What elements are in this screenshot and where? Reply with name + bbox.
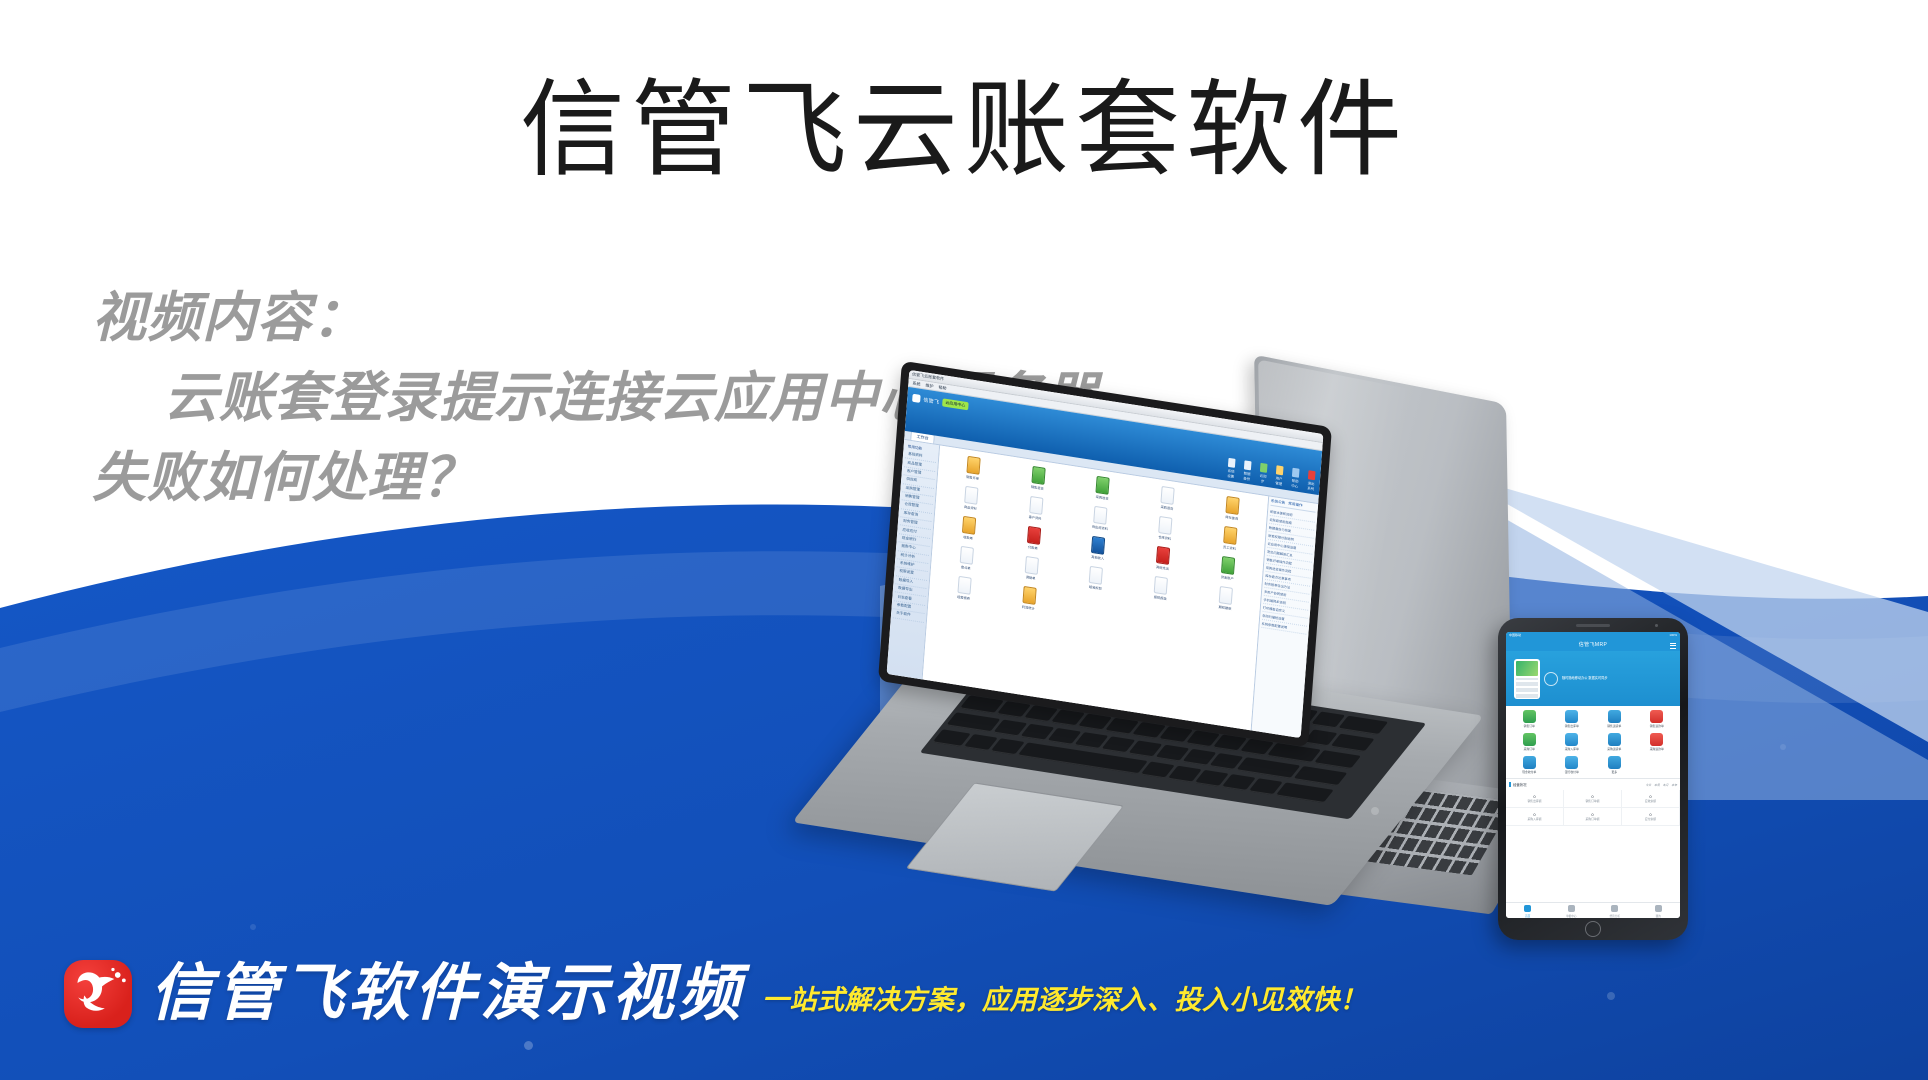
xinguanfei-bird-logo-icon bbox=[64, 960, 132, 1028]
app-main-workspace: 销售开单 销售退货 采购进货 采购退货 库存查询 商品资料 客户资料 供应商资料… bbox=[923, 445, 1269, 730]
filter-year[interactable]: 本年 bbox=[1671, 783, 1677, 787]
ribbon-button-5[interactable]: 退出系统 bbox=[1306, 470, 1317, 491]
phone-app-title: 信管飞MRP bbox=[1579, 641, 1608, 648]
tab-profile[interactable]: 我的 bbox=[1637, 903, 1681, 918]
help-icon bbox=[1292, 468, 1300, 478]
brand-name: 信管飞软件演示视频 bbox=[150, 963, 744, 1025]
module-glyph-icon bbox=[1156, 546, 1170, 565]
module-glyph-icon bbox=[1523, 756, 1536, 769]
stat-label: 销售出库额 bbox=[1506, 799, 1563, 803]
module-glyph-icon bbox=[1565, 710, 1578, 723]
phone-module[interactable]: 银行收付单 bbox=[1552, 756, 1593, 774]
phone-app-header: 信管飞MRP bbox=[1506, 638, 1680, 651]
module-icon[interactable]: 其他支出 bbox=[1132, 542, 1195, 574]
tab-documents[interactable]: 单据中心 bbox=[1550, 903, 1594, 918]
brand-tagline: 一站式解决方案，应用逐步深入、投入小见效快！ bbox=[762, 978, 1367, 1017]
module-icon[interactable]: 商品资料 bbox=[940, 482, 1003, 514]
filter-week[interactable]: 本周 bbox=[1654, 783, 1660, 787]
module-glyph-icon bbox=[1523, 733, 1536, 746]
decor-dot bbox=[524, 1041, 533, 1050]
ribbon-button-label: 退出系统 bbox=[1306, 480, 1316, 491]
chart-icon bbox=[1611, 905, 1618, 912]
module-icon[interactable]: 客户资料 bbox=[1005, 492, 1068, 524]
ribbon-button-label: 数据备份 bbox=[1242, 470, 1252, 481]
module-glyph-icon bbox=[1024, 556, 1038, 575]
module-glyph-icon bbox=[1022, 586, 1036, 605]
document-icon bbox=[1568, 905, 1575, 912]
phone-module[interactable]: 销售退货单 bbox=[1594, 710, 1635, 728]
phone-module-label: 销售退货单 bbox=[1594, 724, 1635, 728]
module-glyph-icon bbox=[966, 456, 980, 475]
module-glyph-icon bbox=[964, 486, 978, 505]
phone-module-label: 银行收付单 bbox=[1552, 770, 1593, 774]
ribbon-button-0[interactable]: 系统设置 bbox=[1226, 458, 1237, 479]
stat-cell[interactable]: 0销售订单额 bbox=[1564, 790, 1622, 808]
decor-dot bbox=[1607, 992, 1615, 1000]
module-glyph-icon bbox=[1158, 516, 1172, 535]
module-glyph-icon bbox=[1608, 756, 1621, 769]
module-glyph-icon bbox=[1161, 486, 1175, 505]
section-title: 经营状况 bbox=[1509, 782, 1527, 787]
laptop-lid-front: 信管飞云账套软件 系统 维护 帮助 信管飞 云应用中心 bbox=[878, 361, 1332, 748]
phone-camera-icon bbox=[1655, 624, 1658, 627]
phone-module[interactable]: 现金收付单 bbox=[1509, 756, 1550, 774]
module-glyph-icon bbox=[1091, 536, 1105, 555]
cloud-sync-icon bbox=[1260, 463, 1268, 473]
phone-module-label: 现金收付单 bbox=[1509, 770, 1550, 774]
phone-module-label: 销售退款单 bbox=[1637, 724, 1678, 728]
filter-today[interactable]: 今日 bbox=[1646, 783, 1652, 787]
module-glyph-icon bbox=[960, 546, 974, 565]
app-brand: 信管飞 云应用中心 bbox=[912, 394, 969, 411]
stat-cell[interactable]: 0采购入库额 bbox=[1506, 808, 1564, 826]
user-icon bbox=[1276, 465, 1284, 475]
module-icon[interactable]: 采购进货 bbox=[1072, 472, 1135, 504]
stat-label: 采购入库额 bbox=[1506, 817, 1563, 821]
module-glyph-icon bbox=[1094, 506, 1108, 525]
laptop-open: 信管飞云账套软件 系统 维护 帮助 信管飞 云应用中心 bbox=[880, 394, 1440, 914]
laptop-screen: 信管飞云账套软件 系统 维护 帮助 信管飞 云应用中心 bbox=[887, 370, 1324, 738]
stat-label: 应付余额 bbox=[1622, 817, 1679, 821]
ribbon-button-label: 云同步 bbox=[1258, 473, 1268, 484]
brand-bar: 信管飞软件演示视频 一站式解决方案，应用逐步深入、投入小见效快！ bbox=[64, 960, 1367, 1028]
decor-dot bbox=[1371, 807, 1379, 815]
module-glyph-icon bbox=[1226, 496, 1240, 515]
ribbon-button-3[interactable]: 用户管理 bbox=[1274, 465, 1285, 486]
decor-dot bbox=[250, 924, 256, 930]
module-icon[interactable]: 收款单 bbox=[937, 512, 1000, 544]
tab-label: 我的 bbox=[1656, 915, 1661, 918]
filter-month[interactable]: 本月 bbox=[1663, 783, 1669, 787]
banner-device-illustration bbox=[1514, 659, 1540, 699]
module-glyph-icon bbox=[1650, 733, 1663, 746]
phone-module[interactable]: 采购退货单 bbox=[1594, 733, 1635, 751]
stat-label: 应收余额 bbox=[1622, 799, 1679, 803]
phone-module[interactable]: 销售退款单 bbox=[1637, 710, 1678, 728]
ribbon-button-2[interactable]: 云同步 bbox=[1258, 463, 1269, 484]
stat-cell[interactable]: 0应收余额 bbox=[1622, 790, 1680, 808]
ribbon-button-label: 系统设置 bbox=[1226, 468, 1236, 479]
module-icon[interactable]: 报损报溢 bbox=[1130, 572, 1193, 604]
logo-bird-glyph bbox=[64, 960, 132, 1028]
stat-cell[interactable]: 0采购订单额 bbox=[1564, 808, 1622, 826]
tab-label: 首页 bbox=[1525, 915, 1530, 918]
module-icon[interactable]: 采购退货 bbox=[1136, 482, 1199, 514]
ribbon-button-4[interactable]: 帮助中心 bbox=[1290, 468, 1301, 489]
module-icon[interactable]: 盘点单 bbox=[935, 542, 998, 574]
module-glyph-icon bbox=[962, 516, 976, 535]
module-icon[interactable]: 组装拆卸 bbox=[1065, 562, 1128, 594]
phone-module[interactable]: 采购退款单 bbox=[1637, 733, 1678, 751]
banner-text: 随时随地移动办公 数据实时同步 bbox=[1562, 676, 1608, 681]
module-glyph-icon bbox=[1027, 526, 1041, 545]
stat-label: 销售订单额 bbox=[1564, 799, 1621, 803]
module-icon[interactable]: 供应商资料 bbox=[1069, 502, 1132, 534]
phone-module-label: 采购订单 bbox=[1509, 747, 1550, 751]
tab-label: 单据中心 bbox=[1566, 915, 1576, 918]
module-icon[interactable]: 仓库资料 bbox=[1134, 512, 1197, 544]
ribbon-button-1[interactable]: 数据备份 bbox=[1242, 460, 1253, 481]
hamburger-menu-icon[interactable] bbox=[1670, 642, 1676, 650]
module-glyph-icon bbox=[1650, 710, 1663, 723]
person-icon bbox=[1655, 905, 1662, 912]
module-glyph-icon bbox=[1565, 733, 1578, 746]
phone-module-label: 销售出库单 bbox=[1552, 724, 1593, 728]
module-glyph-icon bbox=[1031, 466, 1045, 485]
module-glyph-icon bbox=[1096, 476, 1110, 495]
phone-module[interactable]: 销售订单 bbox=[1509, 710, 1550, 728]
ribbon-button-label: 用户管理 bbox=[1274, 475, 1284, 486]
module-glyph-icon bbox=[1223, 526, 1237, 545]
menu-item-0[interactable]: 系统 bbox=[912, 380, 920, 387]
app-ribbon-pill: 云应用中心 bbox=[942, 398, 969, 410]
ribbon-button-label: 帮助中心 bbox=[1290, 478, 1300, 489]
phone-module-label: 销售订单 bbox=[1509, 724, 1550, 728]
stat-label: 采购订单额 bbox=[1564, 817, 1621, 821]
desktop-app: 信管飞云账套软件 系统 维护 帮助 信管飞 云应用中心 bbox=[887, 370, 1324, 738]
module-icon[interactable]: 利润统计 bbox=[998, 582, 1061, 614]
module-glyph-icon bbox=[1608, 710, 1621, 723]
phone-stats-grid: 0销售出库额 0销售订单额 0应收余额 0采购入库额 0采购订单额 0应付余额 bbox=[1506, 790, 1680, 826]
tab-home[interactable]: 首页 bbox=[1506, 903, 1550, 918]
carrier-label: 中国移动 bbox=[1509, 633, 1521, 637]
module-icon[interactable]: 资金账户 bbox=[1197, 552, 1260, 584]
banner-ring-icon bbox=[1544, 672, 1558, 686]
module-icon[interactable]: 付款单 bbox=[1002, 522, 1065, 554]
phone-banner: 随时随地移动办公 数据实时同步 bbox=[1506, 651, 1680, 706]
stat-cell[interactable]: 0应付余额 bbox=[1622, 808, 1680, 826]
module-icon[interactable]: 员工资料 bbox=[1199, 522, 1262, 554]
phone-home-button[interactable] bbox=[1585, 921, 1601, 937]
module-icon[interactable]: 其他收入 bbox=[1067, 532, 1130, 564]
decor-dot bbox=[1780, 744, 1786, 750]
phone-module-label: 采购退款单 bbox=[1637, 747, 1678, 751]
smartphone: 中国移动 100% 信管飞MRP 随时随地移动办公 数据实时同步 销售订单 销售… bbox=[1498, 618, 1688, 940]
phone-module-label: 更多 bbox=[1594, 770, 1635, 774]
phone-speaker bbox=[1576, 624, 1610, 627]
tab-analysis[interactable]: 经营分析 bbox=[1593, 903, 1637, 918]
phone-module[interactable]: 采购订单 bbox=[1509, 733, 1550, 751]
home-icon bbox=[1524, 905, 1531, 912]
phone-section-header: 经营状况 今日 本周 本月 本年 bbox=[1506, 778, 1680, 790]
exit-icon bbox=[1308, 470, 1316, 480]
module-glyph-icon bbox=[1523, 710, 1536, 723]
module-glyph-icon bbox=[1029, 496, 1043, 515]
phone-module-label: 采购退货单 bbox=[1594, 747, 1635, 751]
module-icon[interactable]: 期初建账 bbox=[1194, 582, 1257, 614]
module-icon[interactable]: 销售退货 bbox=[1007, 462, 1070, 494]
module-glyph-icon bbox=[1089, 566, 1103, 585]
module-icon[interactable]: 库存查询 bbox=[1201, 492, 1264, 524]
right-panel-tab-notice[interactable]: 系统公告 bbox=[1271, 499, 1286, 506]
app-brand-text: 信管飞 bbox=[923, 396, 939, 405]
app-logo-icon bbox=[912, 394, 921, 403]
phone-module[interactable]: 更多 bbox=[1594, 756, 1635, 774]
menu-item-1[interactable]: 维护 bbox=[925, 382, 933, 389]
module-glyph-icon bbox=[1221, 556, 1235, 575]
module-glyph-icon bbox=[957, 576, 971, 595]
menu-item-2[interactable]: 帮助 bbox=[938, 384, 946, 391]
video-content-label: 视频内容： bbox=[92, 283, 1152, 353]
module-icon[interactable]: 经营报表 bbox=[933, 572, 996, 604]
module-glyph-icon bbox=[1565, 756, 1578, 769]
module-icon[interactable]: 调拨单 bbox=[1000, 552, 1063, 584]
page-title: 信管飞云账套软件 bbox=[0, 70, 1928, 191]
backup-icon bbox=[1244, 460, 1252, 470]
slide-canvas: 信管飞云账套软件 视频内容： 云账套登录提示连接云应用中心服务器 失败如何处理？ bbox=[0, 0, 1928, 1080]
tab-label: 经营分析 bbox=[1610, 915, 1620, 918]
battery-label: 100% bbox=[1669, 633, 1677, 637]
phone-module[interactable]: 采购入库单 bbox=[1552, 733, 1593, 751]
phone-screen: 中国移动 100% 信管飞MRP 随时随地移动办公 数据实时同步 销售订单 销售… bbox=[1506, 632, 1680, 918]
module-glyph-icon bbox=[1608, 733, 1621, 746]
module-glyph-icon bbox=[1154, 576, 1168, 595]
section-filters[interactable]: 今日 本周 本月 本年 bbox=[1646, 783, 1677, 787]
module-glyph-icon bbox=[1219, 586, 1233, 605]
device-mockups: 信管飞云账套软件 系统 维护 帮助 信管飞 云应用中心 bbox=[880, 380, 1928, 940]
settings-icon bbox=[1228, 458, 1236, 468]
module-icon[interactable]: 销售开单 bbox=[942, 452, 1005, 484]
phone-module[interactable]: 销售出库单 bbox=[1552, 710, 1593, 728]
phone-tabbar[interactable]: 首页 单据中心 经营分析 我的 bbox=[1506, 902, 1680, 918]
right-panel-tab-actions[interactable]: 常用操作 bbox=[1288, 501, 1303, 508]
phone-module-label: 采购入库单 bbox=[1552, 747, 1593, 751]
phone-module-grid[interactable]: 销售订单 销售出库单 销售退货单 销售退款单 采购订单 采购入库单 采购退货单 … bbox=[1506, 706, 1680, 778]
stat-cell[interactable]: 0销售出库额 bbox=[1506, 790, 1564, 808]
